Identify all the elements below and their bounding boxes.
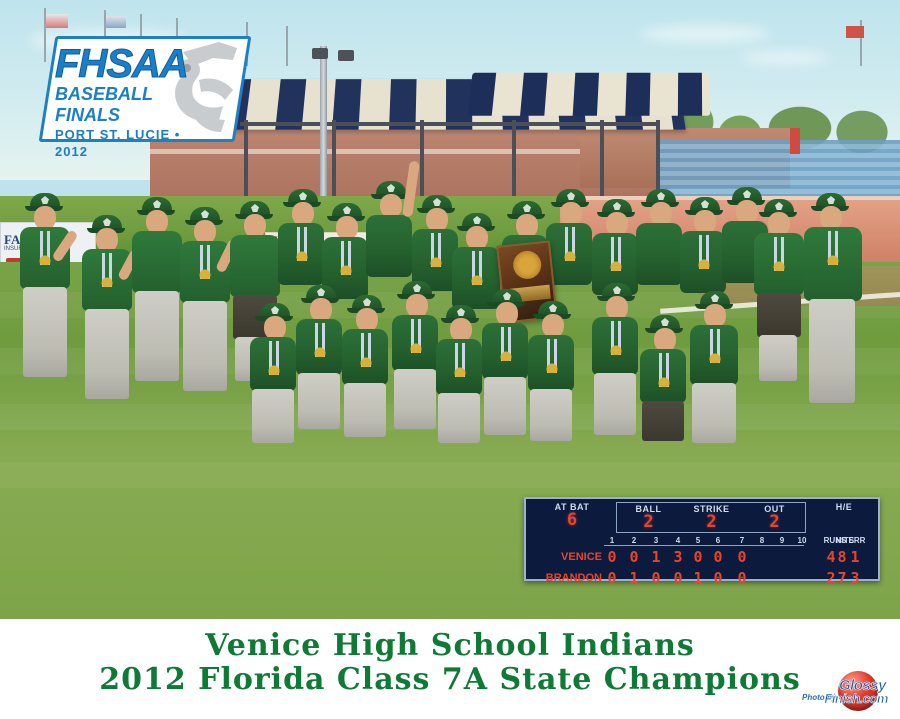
cap-logo-icon (503, 292, 511, 300)
inning-header: 9 (774, 536, 790, 545)
cap-logo-icon (827, 196, 835, 204)
inning-value: 0 (626, 549, 642, 566)
team-legs (298, 373, 340, 429)
cap-logo-icon (413, 284, 421, 292)
championship-poster: THE CLU OUR ENTERTA LY A FAIR INSURANCE (0, 0, 900, 719)
he-panel: H/E (812, 502, 876, 512)
fhsaa-logo: FHSAA BASEBALL FINALS PORT ST. LUCIE • 2… (47, 36, 243, 142)
strike-cell: STRIKE 2 (680, 504, 743, 531)
team-legs (757, 293, 801, 337)
team-legs (809, 299, 855, 403)
team-legs (530, 389, 572, 441)
team-torso (636, 223, 682, 285)
cap-logo-icon (711, 294, 719, 302)
inning-header: 4 (670, 536, 686, 545)
fhsaa-location: PORT ST. LUCIE • 2012 (55, 126, 205, 160)
inning-value: 0 (604, 570, 620, 587)
inning-header: 7 (734, 536, 750, 545)
cap-logo-icon (433, 198, 441, 206)
fhsaa-wordmark: FHSAA (55, 44, 205, 84)
cap-logo-icon (103, 218, 111, 226)
cap-logo-icon (657, 192, 665, 200)
flag (106, 16, 126, 28)
flag (46, 14, 68, 28)
medal (447, 343, 473, 377)
inning-value: 0 (648, 570, 664, 587)
header-underline (604, 545, 804, 546)
caption-band: Venice High School Indians 2012 Florida … (0, 619, 900, 719)
team-legs (759, 335, 797, 381)
medal (333, 241, 359, 275)
cap-logo-icon (661, 318, 669, 326)
medal (820, 231, 846, 265)
count-panel: BALL 2 STRIKE 2 OUT 2 (616, 502, 806, 533)
cap-logo-icon (775, 202, 783, 210)
team-legs (135, 291, 179, 381)
cap-logo-icon (457, 308, 465, 316)
inning-header: 10 (794, 536, 810, 545)
team-torso (230, 235, 280, 297)
inning-value: 0 (710, 570, 726, 587)
inning-header: 8 (754, 536, 770, 545)
cap-logo-icon (387, 184, 395, 192)
pavilion-beam (240, 122, 660, 126)
cap-logo-icon (613, 286, 621, 294)
team-photograph: THE CLU OUR ENTERTA LY A FAIR INSURANCE (0, 0, 900, 619)
team-legs (252, 389, 294, 443)
cap-logo-icon (41, 196, 49, 204)
cap-logo-icon (473, 216, 481, 224)
cloud (640, 26, 770, 42)
team-legs (85, 309, 129, 399)
cloud (740, 52, 830, 64)
medal (651, 353, 677, 387)
cap-logo-icon (201, 210, 209, 218)
medal (557, 227, 583, 261)
inning-value: 0 (710, 549, 726, 566)
inning-value: 0 (690, 549, 706, 566)
team-legs (344, 383, 386, 437)
team-legs (692, 383, 736, 443)
medal (32, 231, 58, 265)
fhsaa-subtitle: BASEBALL FINALS (55, 84, 205, 126)
medal (766, 237, 792, 271)
out-cell: OUT 2 (743, 504, 806, 531)
medal (261, 341, 287, 375)
inning-value: 3 (670, 549, 686, 566)
scoreboard-count-section: AT BAT 6 BALL 2 STRIKE 2 OUT (530, 502, 874, 535)
medal (603, 321, 629, 355)
medal (691, 235, 717, 269)
cap-logo-icon (363, 298, 371, 306)
linescore-grid: 1 2 3 4 5 6 7 8 9 10 RUNS HITS ERR (530, 536, 876, 590)
err-value: 3 (842, 570, 868, 587)
medal (353, 333, 379, 367)
cap-logo-icon (549, 304, 557, 312)
cap-logo-icon (343, 206, 351, 214)
ball-value: 2 (617, 514, 680, 531)
medal (539, 339, 565, 373)
trophy-seal-icon (512, 249, 543, 280)
logo-text-block: FHSAA BASEBALL FINALS PORT ST. LUCIE • 2… (55, 44, 205, 160)
caption-line-1: Venice High School Indians (0, 619, 900, 663)
medal (423, 233, 449, 267)
inning-header-row: 1 2 3 4 5 6 7 8 9 10 RUNS HITS ERR (530, 536, 876, 547)
out-value: 2 (743, 514, 806, 531)
team-group (0, 185, 900, 485)
medal (289, 227, 315, 261)
team-legs (438, 393, 480, 443)
flag (846, 26, 864, 38)
medal (307, 323, 333, 357)
medal (94, 253, 120, 287)
inning-value: 1 (690, 570, 706, 587)
team-name: BRANDON (532, 572, 602, 584)
medal (493, 327, 519, 361)
team-legs (394, 369, 436, 429)
inning-header: 5 (690, 536, 706, 545)
scoreboard-inner: AT BAT 6 BALL 2 STRIKE 2 OUT (530, 502, 874, 576)
inning-value: 0 (734, 549, 750, 566)
cap-logo-icon (317, 288, 325, 296)
team-legs (484, 377, 526, 435)
team-torso (132, 231, 182, 293)
medal (603, 237, 629, 271)
caption-line-2: 2012 Florida Class 7A State Champions (0, 663, 900, 697)
brand-line-2: Finish.com (824, 691, 888, 706)
at-bat-value: 6 (530, 512, 614, 529)
inning-value: 1 (648, 549, 664, 566)
baseball-scoreboard: AT BAT 6 BALL 2 STRIKE 2 OUT (524, 497, 880, 581)
cap-logo-icon (251, 204, 259, 212)
strike-value: 2 (680, 514, 743, 531)
team-legs (594, 373, 636, 435)
err-label: ERR (840, 536, 874, 545)
table-row: BRANDON 0 1 0 0 1 0 0 2 7 3 (530, 571, 876, 590)
team-name: VENICE (532, 551, 602, 563)
table-row: VENICE 0 0 1 3 0 0 0 4 8 1 (530, 550, 876, 569)
light-fixture (312, 48, 328, 59)
team-torso (366, 215, 412, 277)
cap-logo-icon (153, 200, 161, 208)
err-value: 1 (842, 549, 868, 566)
glossyfinish-logo: Photo by Glossy Finish.com (802, 667, 894, 713)
cap-logo-icon (567, 192, 575, 200)
inning-header: 6 (710, 536, 726, 545)
cap-logo-icon (523, 204, 531, 212)
cap-logo-icon (271, 306, 279, 314)
he-label: H/E (812, 502, 876, 512)
medal (403, 319, 429, 353)
team-legs (642, 401, 684, 441)
team-legs (23, 287, 67, 377)
team-legs (183, 301, 227, 391)
light-fixture (338, 50, 354, 61)
cap-logo-icon (743, 190, 751, 198)
at-bat-panel: AT BAT 6 (530, 502, 614, 529)
inning-value: 0 (604, 549, 620, 566)
medal (464, 251, 490, 285)
flag-pole (286, 26, 288, 66)
inning-value: 0 (670, 570, 686, 587)
inning-header: 3 (648, 536, 664, 545)
inning-header: 2 (626, 536, 642, 545)
inning-header: 1 (604, 536, 620, 545)
outfield-flag (790, 128, 800, 154)
cap-logo-icon (701, 200, 709, 208)
medal (702, 329, 728, 363)
pavilion-awning-secondary (467, 73, 710, 116)
inning-value: 1 (626, 570, 642, 587)
cap-logo-icon (299, 192, 307, 200)
ball-cell: BALL 2 (617, 504, 680, 531)
medal (192, 245, 218, 279)
cap-logo-icon (613, 202, 621, 210)
inning-value: 0 (734, 570, 750, 587)
